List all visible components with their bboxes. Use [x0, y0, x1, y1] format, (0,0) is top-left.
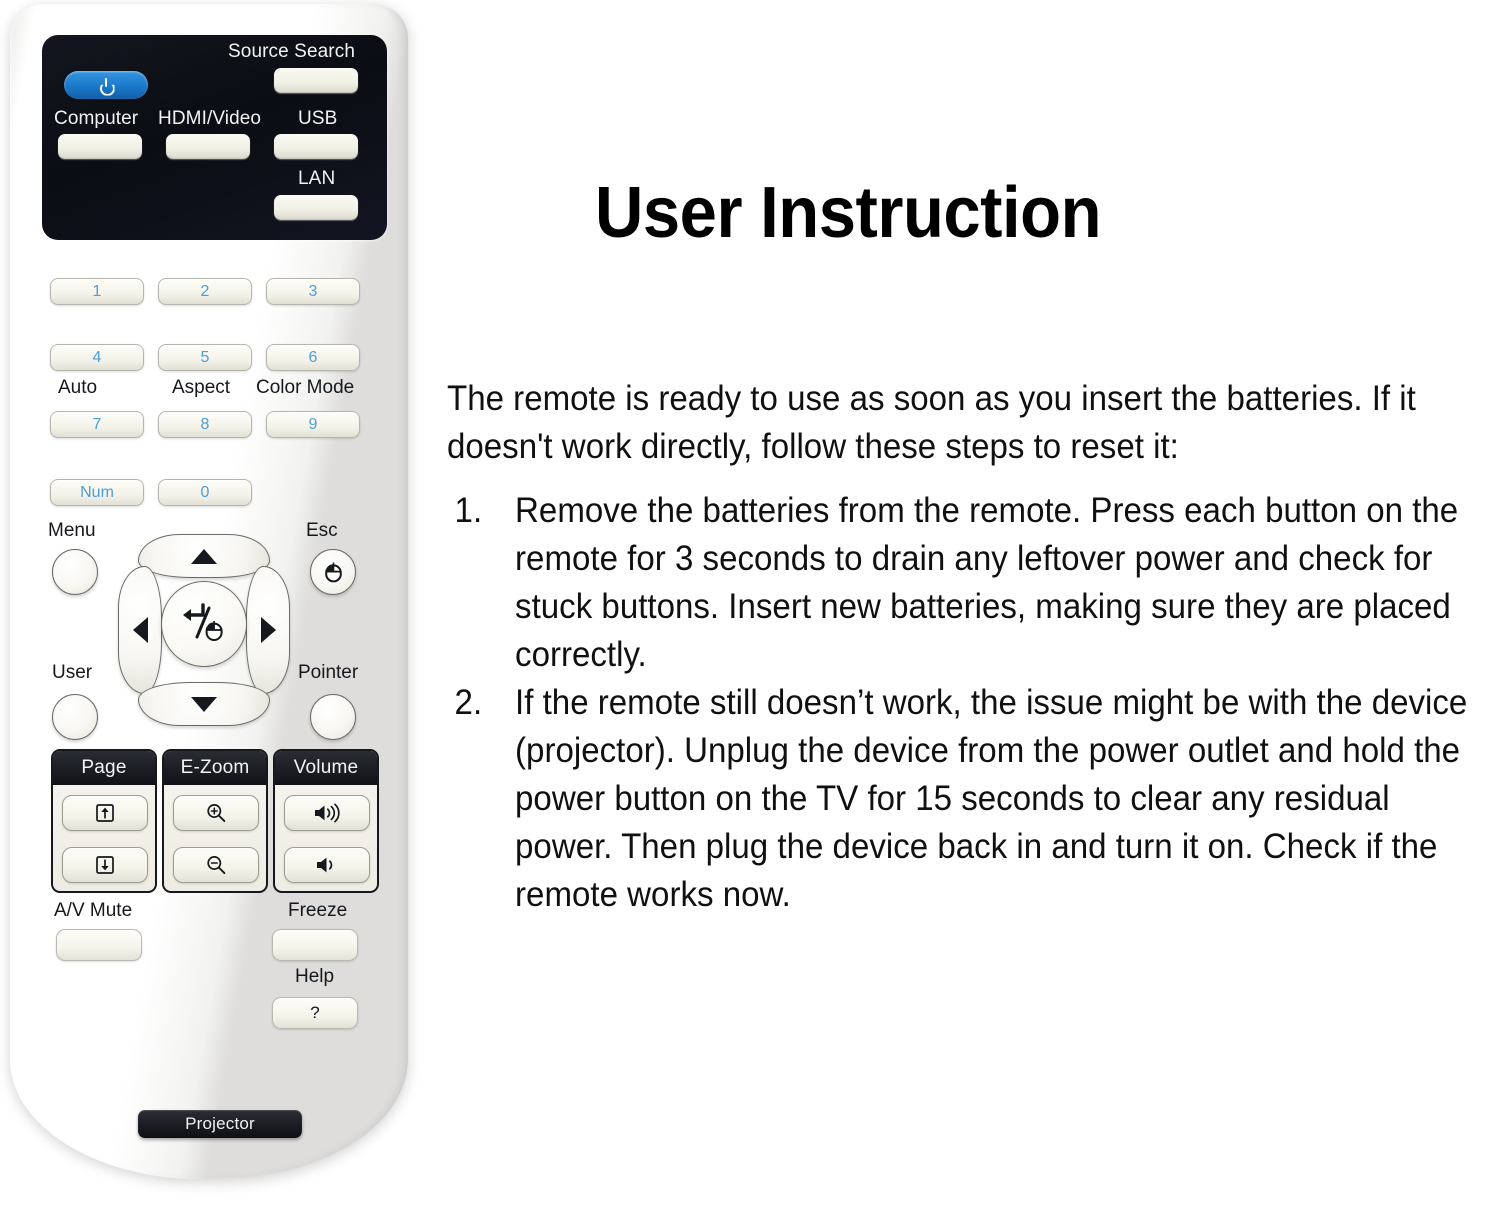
color-mode-caption: Color Mode	[256, 377, 354, 399]
arrow-right-icon	[261, 617, 276, 643]
ezoom-group-header: E-Zoom	[164, 751, 266, 785]
step-text: If the remote still doesn’t work, the is…	[515, 683, 1467, 914]
key-9[interactable]: 9	[266, 411, 360, 438]
key-6[interactable]: 6	[266, 344, 360, 371]
mouse-icon	[324, 562, 343, 583]
esc-label: Esc	[306, 520, 338, 542]
remote-control-figure: Source Search Computer HDMI/Video USB LA…	[0, 0, 440, 1207]
step-marker: 2.	[455, 679, 502, 727]
computer-label: Computer	[54, 108, 138, 130]
arrow-up-icon	[191, 549, 217, 564]
volume-down-button[interactable]	[284, 847, 370, 883]
key-1[interactable]: 1	[50, 278, 144, 305]
zoom-in-button[interactable]	[173, 795, 259, 831]
dpad-right-button[interactable]	[246, 566, 290, 694]
user-label: User	[52, 662, 92, 684]
page-down-icon	[95, 855, 115, 875]
key-3[interactable]: 3	[266, 278, 360, 305]
zoom-out-button[interactable]	[173, 847, 259, 883]
list-item: 2. If the remote still doesn’t work, the…	[447, 679, 1477, 919]
lan-button[interactable]	[274, 195, 358, 220]
enter-button[interactable]	[161, 581, 247, 667]
page-group: Page	[51, 749, 157, 893]
instruction-panel: User Instruction The remote is ready to …	[440, 0, 1500, 1207]
key-2[interactable]: 2	[158, 278, 252, 305]
remote-top-panel: Source Search Computer HDMI/Video USB LA…	[42, 35, 387, 240]
page-up-icon	[95, 803, 115, 823]
lead-paragraph: The remote is ready to use as soon as yo…	[447, 375, 1435, 471]
av-mute-button[interactable]	[56, 929, 142, 961]
page-up-button[interactable]	[62, 795, 148, 831]
volume-down-icon	[312, 855, 342, 875]
aspect-caption: Aspect	[172, 377, 230, 399]
zoom-out-icon	[205, 854, 227, 876]
power-icon	[99, 78, 114, 93]
ezoom-group: E-Zoom	[162, 749, 268, 893]
dpad-left-button[interactable]	[118, 566, 162, 694]
key-4[interactable]: 4	[50, 344, 144, 371]
key-0[interactable]: 0	[158, 479, 252, 506]
volume-up-icon	[312, 803, 342, 823]
key-7[interactable]: 7	[50, 411, 144, 438]
hdmi-video-button[interactable]	[166, 134, 250, 159]
pointer-button[interactable]	[310, 694, 356, 740]
usb-label: USB	[298, 108, 337, 130]
usb-button[interactable]	[274, 134, 358, 159]
help-button[interactable]: ?	[272, 997, 358, 1029]
power-button[interactable]	[64, 71, 148, 99]
hdmi-video-label: HDMI/Video	[158, 108, 261, 130]
volume-group-header: Volume	[275, 751, 377, 785]
menu-button[interactable]	[52, 549, 98, 595]
steps-list: 1. Remove the batteries from the remote.…	[447, 487, 1477, 919]
page-group-header: Page	[53, 751, 155, 785]
remote-body: Source Search Computer HDMI/Video USB LA…	[10, 4, 408, 1179]
source-search-button[interactable]	[274, 68, 358, 93]
pointer-label: Pointer	[298, 662, 358, 684]
projector-button[interactable]: Projector	[138, 1110, 302, 1138]
page-down-button[interactable]	[62, 847, 148, 883]
auto-caption: Auto	[58, 377, 97, 399]
user-button[interactable]	[52, 694, 98, 740]
key-8[interactable]: 8	[158, 411, 252, 438]
freeze-label: Freeze	[288, 900, 347, 922]
dpad-up-button[interactable]	[138, 534, 270, 578]
list-item: 1. Remove the batteries from the remote.…	[447, 487, 1477, 679]
help-label: Help	[295, 966, 334, 988]
enter-mouse-icon	[178, 601, 230, 647]
arrow-left-icon	[133, 617, 148, 643]
freeze-button[interactable]	[272, 929, 358, 961]
computer-button[interactable]	[58, 134, 142, 159]
key-num[interactable]: Num	[50, 479, 144, 506]
step-text: Remove the batteries from the remote. Pr…	[515, 491, 1458, 674]
esc-button[interactable]	[310, 549, 356, 595]
step-marker: 1.	[455, 487, 502, 535]
av-mute-label: A/V Mute	[54, 900, 132, 922]
volume-up-button[interactable]	[284, 795, 370, 831]
source-search-label: Source Search	[228, 41, 355, 63]
volume-group: Volume	[273, 749, 379, 893]
dpad-down-button[interactable]	[138, 682, 270, 726]
menu-label: Menu	[48, 520, 96, 542]
directional-pad	[118, 534, 288, 724]
arrow-down-icon	[191, 697, 217, 712]
zoom-in-icon	[205, 802, 227, 824]
page-title: User Instruction	[595, 172, 1101, 254]
key-5[interactable]: 5	[158, 344, 252, 371]
lan-label: LAN	[298, 168, 335, 190]
